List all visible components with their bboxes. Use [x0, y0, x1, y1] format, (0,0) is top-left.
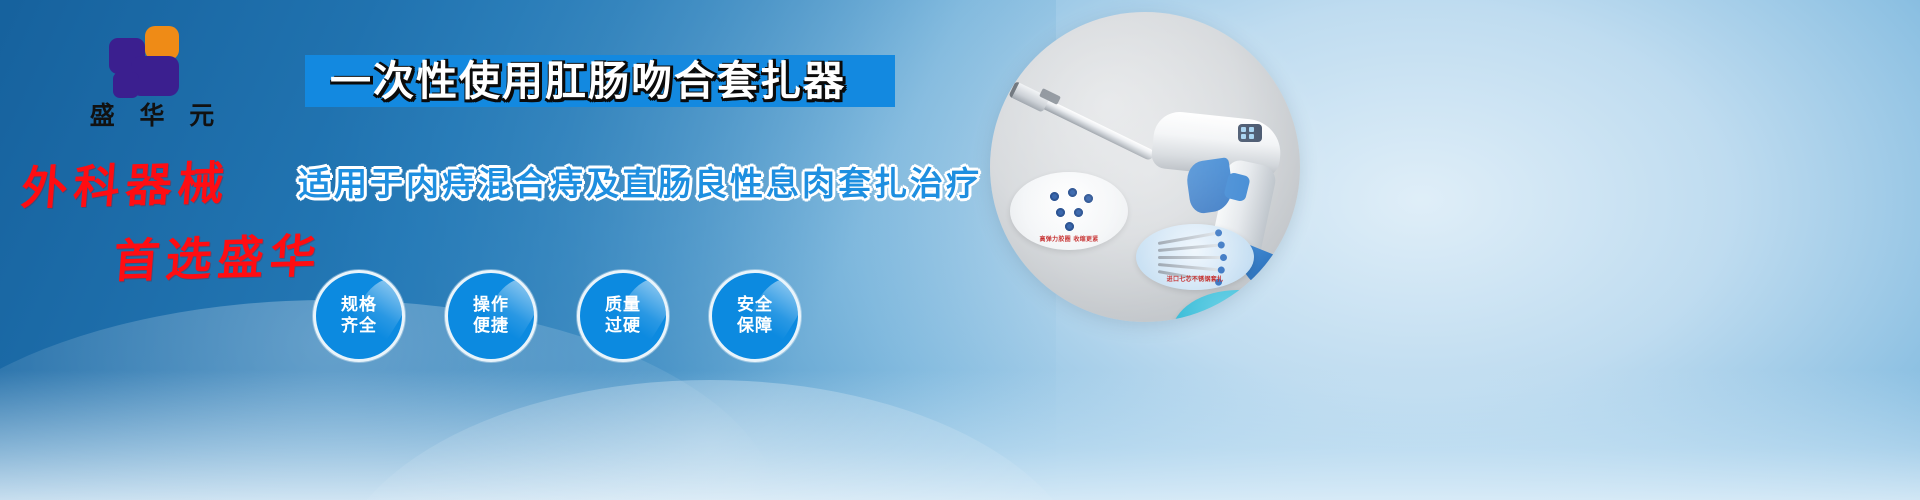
banner-root: 盛 华 元 外科器械 首选盛华 一次性使用肛肠吻合套扎器 适用于内痔混合痔及直肠…	[0, 0, 1920, 500]
disposable-device-shape	[1197, 313, 1285, 322]
product-photo[interactable]: 高弹力胶圈 收缩更紧 进口七芯不锈钢套扎	[990, 12, 1300, 322]
feature-badge-line-2: 过硬	[605, 316, 641, 337]
feature-badge-safety[interactable]: 安全 保障	[709, 270, 801, 362]
feature-badge-line-1: 操作	[473, 295, 509, 316]
feature-badge-line-1: 质量	[605, 295, 641, 316]
feature-badge-line-2: 保障	[737, 316, 773, 337]
feature-badge-quality[interactable]: 质量 过硬	[577, 270, 669, 362]
disposable-device-inset	[1172, 290, 1300, 322]
feature-badge-line-1: 规格	[341, 295, 377, 316]
feature-badge-line-2: 便捷	[473, 316, 509, 337]
logo-block-purple-bottom	[113, 72, 139, 98]
feature-badge-list: 规格 齐全 操作 便捷 质量 过硬 安全 保障	[313, 270, 801, 362]
rubber-rings-caption: 高弹力胶圈 收缩更紧	[1010, 234, 1128, 243]
page-subtitle: 适用于内痔混合痔及直肠良性息肉套扎治疗	[298, 157, 982, 205]
ligation-needles-inset: 进口七芯不锈钢套扎	[1136, 224, 1254, 290]
brand-logo-icon	[109, 26, 195, 98]
logo-block-orange	[145, 26, 179, 60]
ligation-needles-caption: 进口七芯不锈钢套扎	[1136, 274, 1254, 283]
brand-logo[interactable]: 盛 华 元	[62, 26, 242, 130]
device-control-pad-icon	[1238, 124, 1262, 142]
feature-badge-operation[interactable]: 操作 便捷	[445, 270, 537, 362]
page-title: 一次性使用肛肠吻合套扎器	[330, 55, 910, 107]
feature-badge-line-1: 安全	[737, 295, 773, 316]
rubber-rings-inset: 高弹力胶圈 收缩更紧	[1010, 172, 1128, 250]
brand-logo-text: 盛 华 元	[62, 102, 242, 130]
feature-badge-specification[interactable]: 规格 齐全	[313, 270, 405, 362]
product-photo-circle: 高弹力胶圈 收缩更紧 进口七芯不锈钢套扎	[990, 12, 1300, 322]
feature-badge-line-2: 齐全	[341, 316, 377, 337]
